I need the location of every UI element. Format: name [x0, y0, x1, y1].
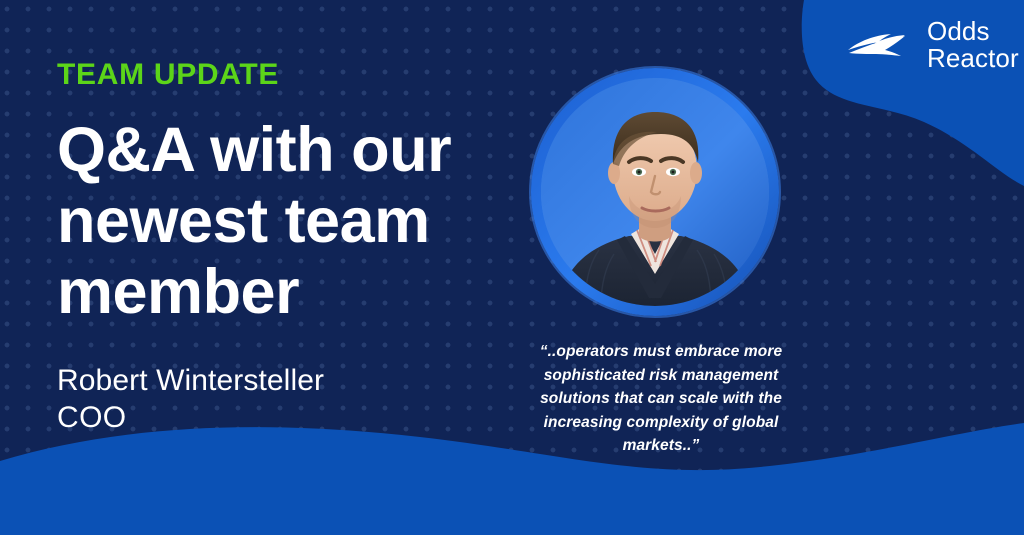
portrait-photo — [541, 78, 769, 306]
avatar — [531, 68, 779, 316]
person-role: COO — [57, 399, 527, 437]
page-title: Q&A with our newest team member — [57, 115, 517, 329]
brand-logo-text: Odds Reactor — [927, 18, 1019, 72]
person-block: Robert Wintersteller COO — [57, 362, 527, 438]
quote-text: “..operators must embrace more sophistic… — [513, 340, 809, 458]
eyebrow-label: TEAM UPDATE — [57, 58, 527, 91]
headline-column: TEAM UPDATE Q&A with our newest team mem… — [57, 58, 527, 437]
team-update-banner: TEAM UPDATE Q&A with our newest team mem… — [0, 0, 1024, 535]
swift-bird-icon — [845, 23, 917, 67]
brand-logo-line2: Reactor — [927, 45, 1019, 72]
brand-logo-line1: Odds — [927, 18, 1019, 45]
brand-logo[interactable]: Odds Reactor — [845, 18, 1019, 72]
avatar-inner-circle — [541, 78, 769, 306]
person-name: Robert Wintersteller — [57, 362, 527, 400]
